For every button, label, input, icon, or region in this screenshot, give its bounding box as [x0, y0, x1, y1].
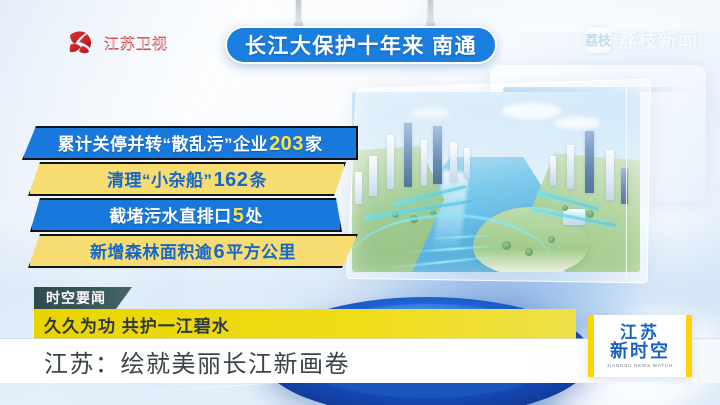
- glass-case-body: [346, 79, 651, 284]
- stat-bar: 清理“小杂船”162条: [28, 162, 346, 196]
- stat-bar-text: 清理“小杂船”162条: [107, 166, 267, 192]
- news-watermark: 荔枝 荔枝新闻: [585, 26, 698, 53]
- stat-bar-text: 新增森林面积逾6平方公里: [90, 238, 296, 264]
- stat-number: 162: [213, 169, 250, 191]
- channel-logo: 江苏卫视: [64, 26, 168, 60]
- section-kicker: 时空要闻: [34, 287, 132, 309]
- subtitle-band: 久久为功 共护一江碧水: [34, 309, 576, 339]
- lizhi-news-icon: 荔枝: [585, 27, 611, 53]
- program-badge: 江苏 新时空 JIANGSU NEWS WATCH: [588, 315, 692, 377]
- stat-bar: 新增森林面积逾6平方公里: [28, 234, 358, 268]
- stat-prefix: 累计关停并转“散乱污”企业: [58, 135, 269, 154]
- stat-number: 5: [232, 205, 246, 227]
- stat-prefix: 清理“小杂船”: [107, 171, 213, 190]
- stat-bar-text: 累计关停并转“散乱污”企业203家: [58, 130, 323, 156]
- subtitle-text: 久久为功 共护一江碧水: [34, 312, 230, 337]
- stat-suffix: 条: [249, 171, 267, 190]
- stat-prefix: 截堵污水直排口: [109, 207, 232, 226]
- glass-case-edge: [626, 86, 627, 276]
- topic-banner-title: 长江大保护十年来 南通: [245, 30, 477, 60]
- topic-banner: 长江大保护十年来 南通: [225, 26, 497, 64]
- glass-display-case: [345, 82, 645, 280]
- jiangsu-tv-mark-icon: [64, 26, 98, 60]
- kicker-row: 时空要闻: [0, 287, 720, 309]
- program-badge-line1: 江苏: [620, 324, 660, 342]
- stat-suffix: 平方公里: [226, 243, 296, 262]
- stat-bar: 累计关停并转“散乱污”企业203家: [22, 126, 358, 160]
- stat-bar: 截堵污水直排口5处: [30, 198, 342, 232]
- section-kicker-text: 时空要闻: [46, 288, 106, 308]
- stat-number: 6: [212, 241, 226, 263]
- program-badge-english: JIANGSU NEWS WATCH: [607, 363, 673, 368]
- program-badge-line2: 新时空: [610, 342, 670, 362]
- watermark-text: 荔枝新闻: [618, 26, 698, 53]
- stat-bar-text: 截堵污水直排口5处: [109, 202, 263, 228]
- stat-suffix: 家: [305, 135, 323, 154]
- statistics-list: 累计关停并转“散乱污”企业203家 清理“小杂船”162条 截堵污水直排口5处 …: [22, 126, 362, 270]
- stat-prefix: 新增森林面积逾: [90, 243, 213, 262]
- stat-number: 203: [268, 133, 305, 155]
- stat-suffix: 处: [245, 207, 263, 226]
- headline-text: 江苏：绘就美丽长江新画卷: [0, 344, 350, 379]
- channel-logo-text: 江苏卫视: [104, 33, 168, 54]
